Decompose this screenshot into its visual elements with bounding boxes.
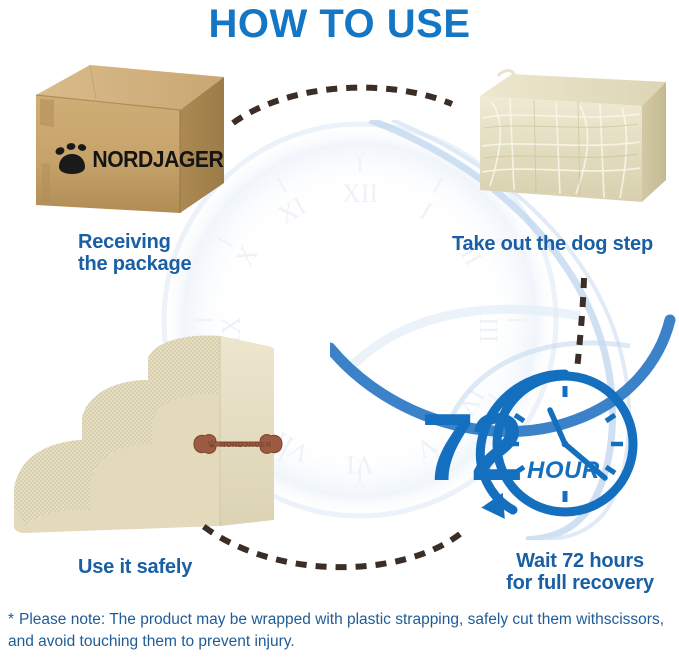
badge-number: 72 bbox=[421, 394, 520, 501]
label-line: for full recovery bbox=[480, 572, 679, 594]
step-label-use-safely: Use it safely bbox=[78, 556, 288, 578]
72-hour-badge: 72 HOUR bbox=[415, 352, 665, 537]
label-line: Take out the dog step bbox=[452, 233, 679, 255]
footnote: *Please note: The product may be wrapped… bbox=[8, 609, 673, 653]
step-label-take-out: Take out the dog step bbox=[452, 233, 679, 255]
dog-step-image: NORDJAGER bbox=[6, 330, 296, 545]
infographic-canvas: XII I II III IV V VI VII VIII IX X XI HO… bbox=[0, 0, 679, 659]
step-label-wait: Wait 72 hours for full recovery bbox=[480, 550, 679, 595]
bone-tag-text: NORDJAGER bbox=[220, 440, 272, 449]
label-line: Receiving bbox=[78, 231, 278, 253]
wrapped-package-image bbox=[470, 62, 670, 220]
footnote-text: Please note: The product may be wrapped … bbox=[8, 611, 664, 650]
page-title: HOW TO USE bbox=[0, 2, 679, 47]
box-brand-text: NORDJAGER bbox=[92, 146, 223, 172]
badge-unit: HOUR bbox=[527, 457, 600, 484]
label-line: Use it safely bbox=[78, 556, 288, 578]
label-line: Wait 72 hours bbox=[480, 550, 679, 572]
footnote-marker: * bbox=[8, 609, 19, 631]
cardboard-box-image: NORDJAGER bbox=[28, 55, 233, 225]
label-line: the package bbox=[78, 253, 278, 275]
step-label-receiving: Receiving the package bbox=[78, 231, 278, 276]
